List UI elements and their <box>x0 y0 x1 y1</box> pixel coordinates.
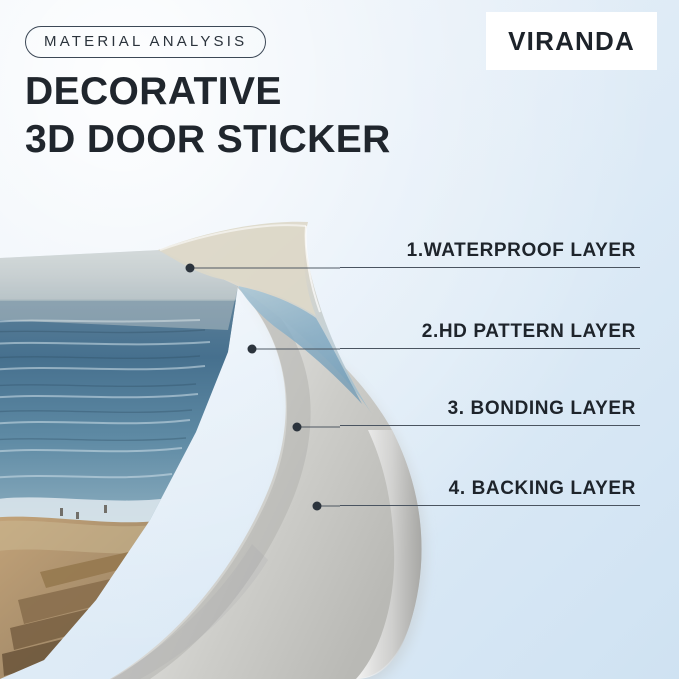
page-title: DECORATIVE 3D DOOR STICKER <box>25 68 391 163</box>
poster-canvas: MATERIAL ANALYSIS DECORATIVE 3D DOOR STI… <box>0 0 679 679</box>
title-line-1: DECORATIVE <box>25 68 391 116</box>
callout-layer-1: 1.WATERPROOF LAYER <box>340 240 640 268</box>
callout-rule-4 <box>340 505 640 506</box>
callout-layer-3: 3. BONDING LAYER <box>340 398 640 426</box>
callout-rule-1 <box>340 267 640 268</box>
brand-name: VIRANDA <box>508 28 635 54</box>
brand-panel: VIRANDA <box>486 12 657 70</box>
callout-layer-4: 4. BACKING LAYER <box>340 478 640 506</box>
callout-label-1: 1.WATERPROOF LAYER <box>340 240 640 267</box>
callout-rule-2 <box>340 348 640 349</box>
callout-layer-2: 2.HD PATTERN LAYER <box>340 321 640 349</box>
eyebrow-badge: MATERIAL ANALYSIS <box>25 26 266 58</box>
callout-label-4: 4. BACKING LAYER <box>340 478 640 505</box>
title-line-2: 3D DOOR STICKER <box>25 116 391 164</box>
callout-rule-3 <box>340 425 640 426</box>
callout-label-2: 2.HD PATTERN LAYER <box>340 321 640 348</box>
callout-label-3: 3. BONDING LAYER <box>340 398 640 425</box>
